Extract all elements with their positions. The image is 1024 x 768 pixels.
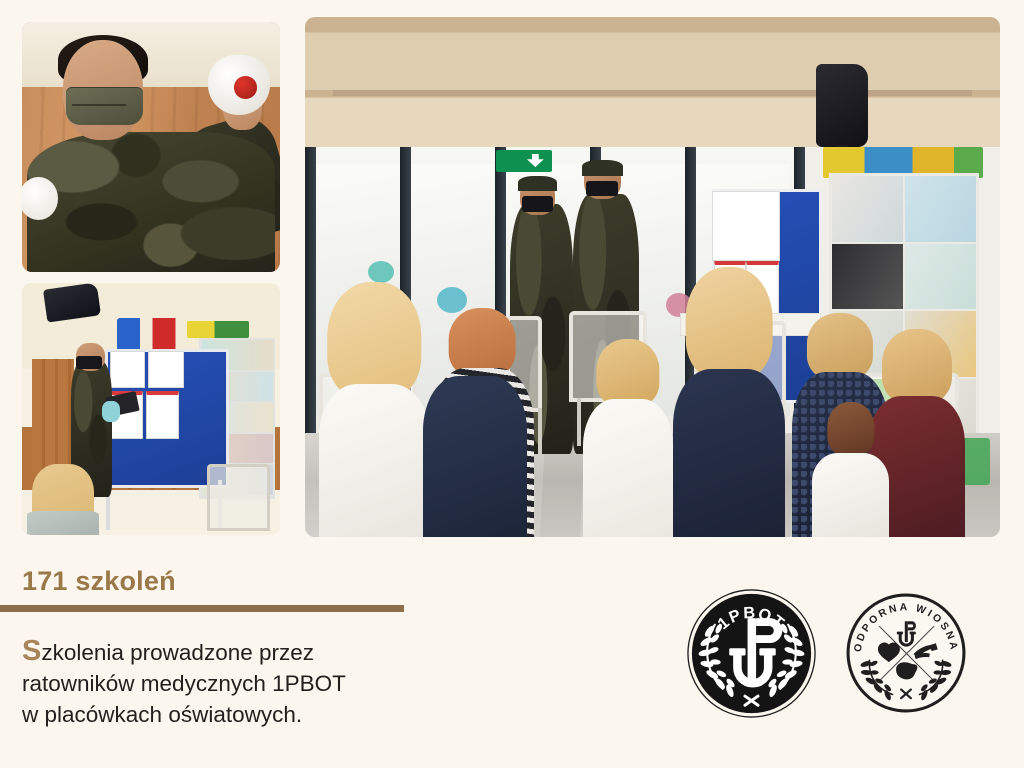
- logo-1pbot: 1PBOT: [686, 588, 817, 719]
- emergency-exit-sign-icon: [496, 150, 552, 172]
- body-copy: Szkolenia prowadzone przezratowników med…: [22, 636, 422, 730]
- medical-glove-icon: [102, 401, 120, 421]
- board-poster: [712, 191, 780, 261]
- attendee-jacket-navy: [423, 376, 527, 537]
- shelf-cell: [831, 175, 904, 243]
- body-line-2: ratowników medycznych 1PBOT: [22, 671, 346, 696]
- wall-banner: [187, 321, 249, 339]
- soldier-torso-camouflage: [27, 132, 275, 272]
- board-poster: [148, 351, 184, 388]
- attendee-hair: [827, 402, 874, 456]
- respirator-mask-icon: [208, 55, 270, 115]
- logo-odporna-wiosna-svg: ODPORNA WIOSNA: [845, 592, 967, 714]
- attendee-hair: [882, 329, 952, 404]
- page-title: 171 szkoleń: [22, 566, 176, 597]
- hall-ceiling: [305, 17, 1000, 147]
- logo-odporna-wiosna: ODPORNA WIOSNA: [845, 592, 967, 714]
- poster-canvas: 171 szkoleń Szkolenia prowadzone przezra…: [0, 0, 1024, 768]
- photo-hall-scene: [305, 17, 1000, 537]
- speaker-icon: [816, 64, 868, 147]
- wood-panel-wall: [32, 359, 73, 475]
- drop-cap: S: [22, 635, 41, 667]
- seated-attendee: [673, 267, 784, 537]
- seated-attendee: [812, 402, 888, 537]
- face-mask-icon: [66, 87, 143, 125]
- seated-attendee: [583, 339, 673, 537]
- attendee-clothing: [673, 369, 784, 537]
- board-poster: [146, 391, 179, 439]
- stacked-cups: [117, 318, 184, 351]
- military-cap-icon: [518, 176, 557, 192]
- photo-hall-training: [305, 17, 1000, 537]
- attendee-clothing: [319, 384, 430, 537]
- paper-rosette-decoration: [368, 261, 394, 283]
- photo-soldier-respirator-scene: [22, 22, 280, 272]
- attendee-clothing: [812, 453, 888, 537]
- body-line-3: w placówkach oświatowych.: [22, 702, 302, 727]
- attendee-clothing: [583, 399, 673, 537]
- attendee-hair: [328, 282, 421, 399]
- face-mask-icon: [76, 356, 102, 369]
- folding-chair: [207, 464, 270, 530]
- board-poster: [110, 351, 146, 388]
- photo-soldier-board: [22, 283, 280, 535]
- divider: [0, 605, 404, 612]
- body-line-1: zkolenia prowadzone przez: [41, 640, 314, 665]
- respirator-mask-second-icon: [22, 177, 58, 220]
- shelf-cell: [831, 243, 904, 311]
- shelf-cell: [904, 175, 977, 243]
- photo-soldier-board-scene: [22, 283, 280, 535]
- logo-1pbot-svg: 1PBOT: [686, 588, 817, 719]
- window-mullion: [305, 147, 316, 433]
- face-mask-icon: [522, 196, 553, 212]
- military-cap-icon: [582, 160, 622, 176]
- attendee-hair: [597, 339, 660, 406]
- attendee-hair: [807, 313, 873, 380]
- face-mask-icon: [586, 181, 618, 197]
- seated-listener: [32, 464, 94, 535]
- attendee-hair: [686, 267, 773, 381]
- seated-attendee: [319, 282, 430, 537]
- attendee-hair: [449, 308, 516, 377]
- shelf-cell: [904, 243, 977, 311]
- photo-soldier-respirator: [22, 22, 280, 272]
- seated-attendee: [423, 376, 527, 537]
